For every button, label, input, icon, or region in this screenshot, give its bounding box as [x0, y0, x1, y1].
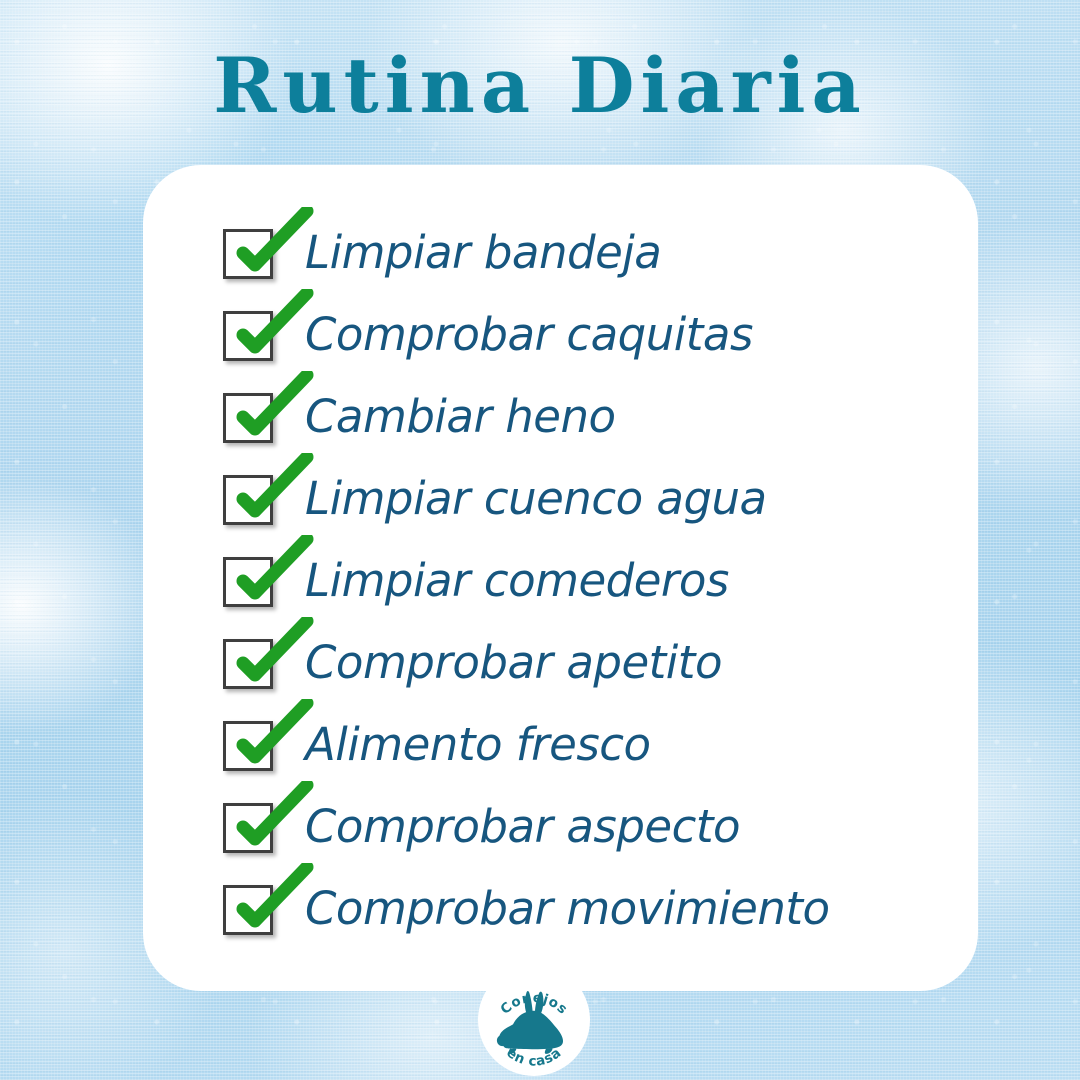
checklist-row[interactable]: Alimento fresco	[223, 707, 963, 789]
checklist-row[interactable]: Comprobar caquitas	[223, 297, 963, 379]
brand-logo: Conejos en casa	[478, 964, 590, 1076]
checklist-item-label: Limpiar comederos	[305, 543, 729, 619]
checklist-row[interactable]: Limpiar comederos	[223, 543, 963, 625]
checklist-item-label: Comprobar aspecto	[305, 789, 740, 865]
checklist-item-label: Comprobar caquitas	[305, 297, 753, 373]
checklist: Limpiar bandejaComprobar caquitasCambiar…	[223, 215, 963, 953]
checklist-row[interactable]: Limpiar bandeja	[223, 215, 963, 297]
checklist-row[interactable]: Comprobar movimiento	[223, 871, 963, 953]
checklist-row[interactable]: Limpiar cuenco agua	[223, 461, 963, 543]
checklist-row[interactable]: Comprobar aspecto	[223, 789, 963, 871]
checklist-item-label: Limpiar bandeja	[305, 215, 661, 291]
checkbox[interactable]	[223, 475, 273, 525]
checklist-item-label: Comprobar apetito	[305, 625, 722, 701]
checkbox[interactable]	[223, 557, 273, 607]
checkbox[interactable]	[223, 639, 273, 689]
checkbox[interactable]	[223, 393, 273, 443]
checklist-row[interactable]: Cambiar heno	[223, 379, 963, 461]
checkbox[interactable]	[223, 803, 273, 853]
checklist-item-label: Comprobar movimiento	[305, 871, 830, 947]
checklist-item-label: Cambiar heno	[305, 379, 616, 455]
checkbox[interactable]	[223, 311, 273, 361]
checklist-item-label: Limpiar cuenco agua	[305, 461, 767, 537]
checklist-card: Limpiar bandejaComprobar caquitasCambiar…	[143, 165, 978, 991]
checkbox[interactable]	[223, 721, 273, 771]
page-title: Rutina Diaria	[0, 44, 1080, 128]
checklist-item-label: Alimento fresco	[305, 707, 651, 783]
poster-canvas: Rutina Diaria Limpiar bandejaComprobar c…	[0, 0, 1080, 1080]
checkbox[interactable]	[223, 885, 273, 935]
checklist-row[interactable]: Comprobar apetito	[223, 625, 963, 707]
checkbox[interactable]	[223, 229, 273, 279]
